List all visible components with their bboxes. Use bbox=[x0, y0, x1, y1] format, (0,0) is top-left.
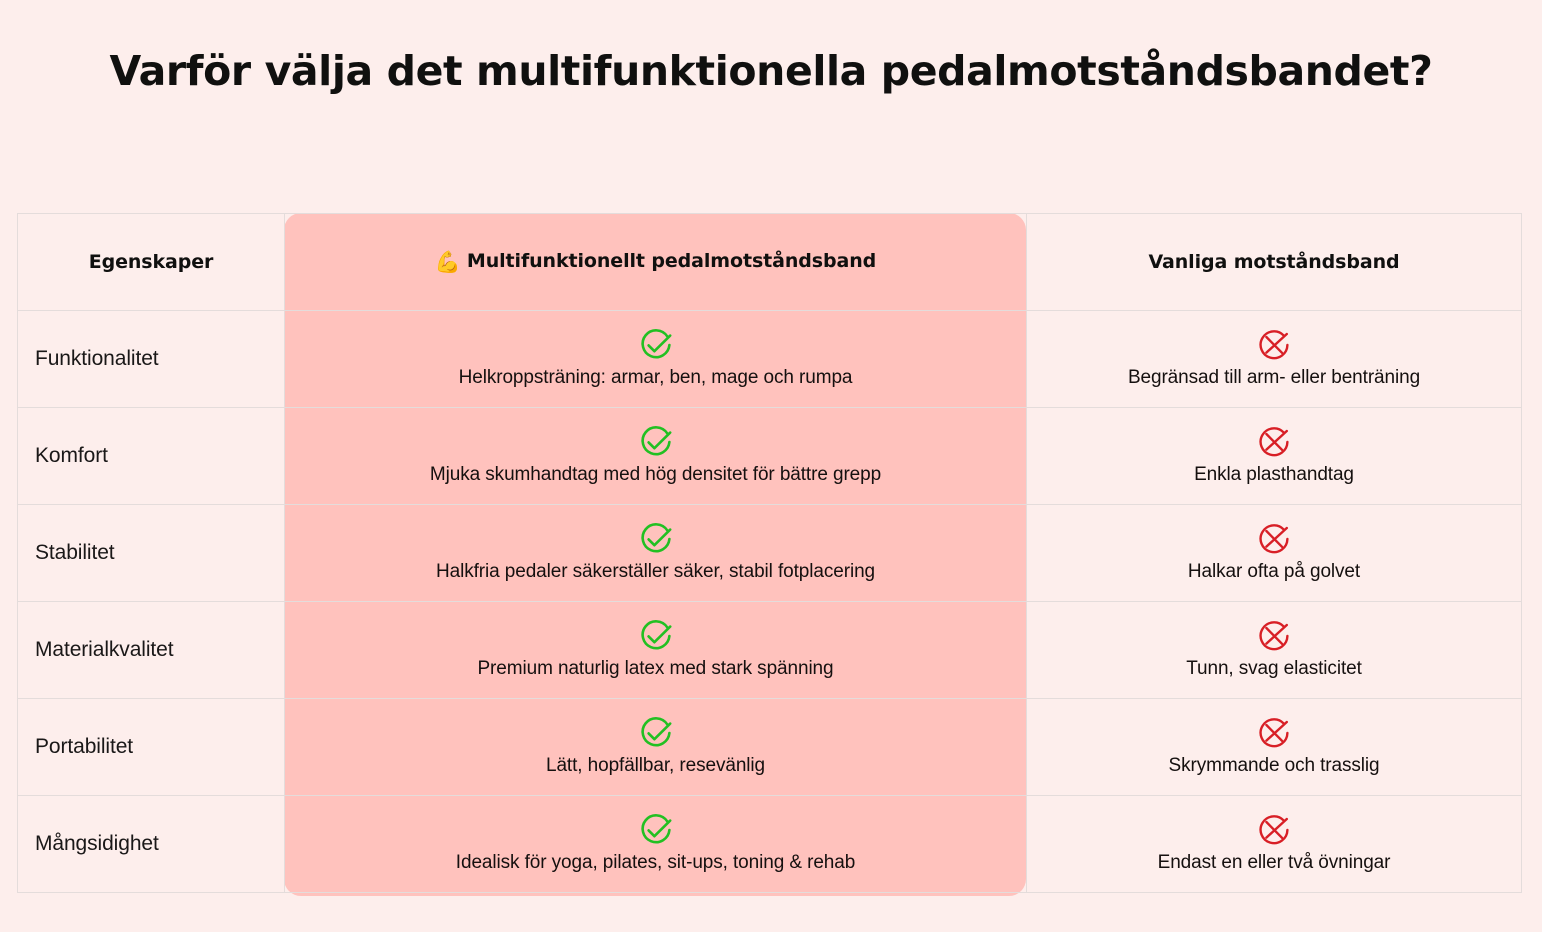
cell-inner: Idealisk för yoga, pilates, sit-ups, ton… bbox=[299, 811, 1012, 875]
column-header-hero-label: Multifunktionellt pedalmotståndsband bbox=[467, 250, 876, 272]
cell-inner: Begränsad till arm- eller benträning bbox=[1041, 326, 1507, 390]
cross-circle-icon bbox=[1255, 326, 1293, 364]
standard-value-cell: Begränsad till arm- eller benträning bbox=[1027, 311, 1522, 408]
comparison-table: Egenskaper 💪Multifunktionellt pedalmotst… bbox=[17, 213, 1522, 893]
column-header-standard: Vanliga motståndsband bbox=[1027, 214, 1522, 311]
standard-value-cell: Enkla plasthandtag bbox=[1027, 408, 1522, 505]
table-row: MångsidighetIdealisk för yoga, pilates, … bbox=[18, 796, 1522, 893]
table-row: MaterialkvalitetPremium naturlig latex m… bbox=[18, 602, 1522, 699]
feature-name-cell: Stabilitet bbox=[18, 505, 285, 602]
hero-value-text: Premium naturlig latex med stark spännin… bbox=[477, 657, 833, 681]
cell-inner: Tunn, svag elasticitet bbox=[1041, 617, 1507, 681]
cross-circle-icon bbox=[1255, 423, 1293, 461]
cell-inner: Halkar ofta på golvet bbox=[1041, 520, 1507, 584]
hero-value-cell: Premium naturlig latex med stark spännin… bbox=[285, 602, 1027, 699]
standard-value-cell: Endast en eller två övningar bbox=[1027, 796, 1522, 893]
flexed-biceps-icon: 💪 bbox=[435, 250, 461, 274]
table-row: FunktionalitetHelkroppsträning: armar, b… bbox=[18, 311, 1522, 408]
hero-value-cell: Mjuka skumhandtag med hög densitet för b… bbox=[285, 408, 1027, 505]
feature-name-cell: Materialkvalitet bbox=[18, 602, 285, 699]
cross-circle-icon bbox=[1255, 520, 1293, 558]
hero-value-text: Lätt, hopfällbar, resevänlig bbox=[546, 754, 765, 778]
cross-circle-icon bbox=[1255, 811, 1293, 849]
standard-value-cell: Tunn, svag elasticitet bbox=[1027, 602, 1522, 699]
check-circle-icon bbox=[637, 423, 675, 461]
hero-value-text: Halkfria pedaler säkerställer säker, sta… bbox=[436, 560, 875, 584]
feature-name-cell: Portabilitet bbox=[18, 699, 285, 796]
cell-inner: Mjuka skumhandtag med hög densitet för b… bbox=[299, 423, 1012, 487]
standard-value-text: Halkar ofta på golvet bbox=[1188, 560, 1360, 584]
feature-name-cell: Mångsidighet bbox=[18, 796, 285, 893]
cell-inner: Enkla plasthandtag bbox=[1041, 423, 1507, 487]
feature-name-cell: Komfort bbox=[18, 408, 285, 505]
check-circle-icon bbox=[637, 326, 675, 364]
column-header-hero: 💪Multifunktionellt pedalmotståndsband bbox=[285, 214, 1027, 311]
standard-value-text: Skrymmande och trasslig bbox=[1169, 754, 1380, 778]
column-header-feature: Egenskaper bbox=[18, 214, 285, 311]
cell-inner: Premium naturlig latex med stark spännin… bbox=[299, 617, 1012, 681]
check-circle-icon bbox=[637, 811, 675, 849]
hero-value-cell: Lätt, hopfällbar, resevänlig bbox=[285, 699, 1027, 796]
hero-value-cell: Idealisk för yoga, pilates, sit-ups, ton… bbox=[285, 796, 1027, 893]
check-circle-icon bbox=[637, 714, 675, 752]
table-header-row: Egenskaper 💪Multifunktionellt pedalmotst… bbox=[18, 214, 1522, 311]
cell-inner: Endast en eller två övningar bbox=[1041, 811, 1507, 875]
standard-value-text: Tunn, svag elasticitet bbox=[1186, 657, 1362, 681]
hero-value-text: Mjuka skumhandtag med hög densitet för b… bbox=[430, 463, 881, 487]
hero-value-text: Helkroppsträning: armar, ben, mage och r… bbox=[459, 366, 853, 390]
comparison-page: Varför välja det multifunktionella pedal… bbox=[0, 0, 1542, 932]
check-circle-icon bbox=[637, 520, 675, 558]
table-body: FunktionalitetHelkroppsträning: armar, b… bbox=[18, 311, 1522, 893]
cell-inner: Skrymmande och trasslig bbox=[1041, 714, 1507, 778]
standard-value-text: Endast en eller två övningar bbox=[1158, 851, 1391, 875]
feature-name-cell: Funktionalitet bbox=[18, 311, 285, 408]
check-circle-icon bbox=[637, 617, 675, 655]
comparison-table-wrap: Egenskaper 💪Multifunktionellt pedalmotst… bbox=[17, 213, 1521, 896]
table-row: PortabilitetLätt, hopfällbar, resevänlig… bbox=[18, 699, 1522, 796]
hero-value-cell: Halkfria pedaler säkerställer säker, sta… bbox=[285, 505, 1027, 602]
table-header: Egenskaper 💪Multifunktionellt pedalmotst… bbox=[18, 214, 1522, 311]
cross-circle-icon bbox=[1255, 714, 1293, 752]
cell-inner: Helkroppsträning: armar, ben, mage och r… bbox=[299, 326, 1012, 390]
cell-inner: Lätt, hopfällbar, resevänlig bbox=[299, 714, 1012, 778]
standard-value-text: Begränsad till arm- eller benträning bbox=[1128, 366, 1420, 390]
hero-value-text: Idealisk för yoga, pilates, sit-ups, ton… bbox=[456, 851, 855, 875]
cell-inner: Halkfria pedaler säkerställer säker, sta… bbox=[299, 520, 1012, 584]
standard-value-cell: Skrymmande och trasslig bbox=[1027, 699, 1522, 796]
table-row: StabilitetHalkfria pedaler säkerställer … bbox=[18, 505, 1522, 602]
hero-value-cell: Helkroppsträning: armar, ben, mage och r… bbox=[285, 311, 1027, 408]
page-title: Varför välja det multifunktionella pedal… bbox=[0, 47, 1542, 95]
standard-value-cell: Halkar ofta på golvet bbox=[1027, 505, 1522, 602]
cross-circle-icon bbox=[1255, 617, 1293, 655]
standard-value-text: Enkla plasthandtag bbox=[1194, 463, 1354, 487]
table-row: KomfortMjuka skumhandtag med hög densite… bbox=[18, 408, 1522, 505]
